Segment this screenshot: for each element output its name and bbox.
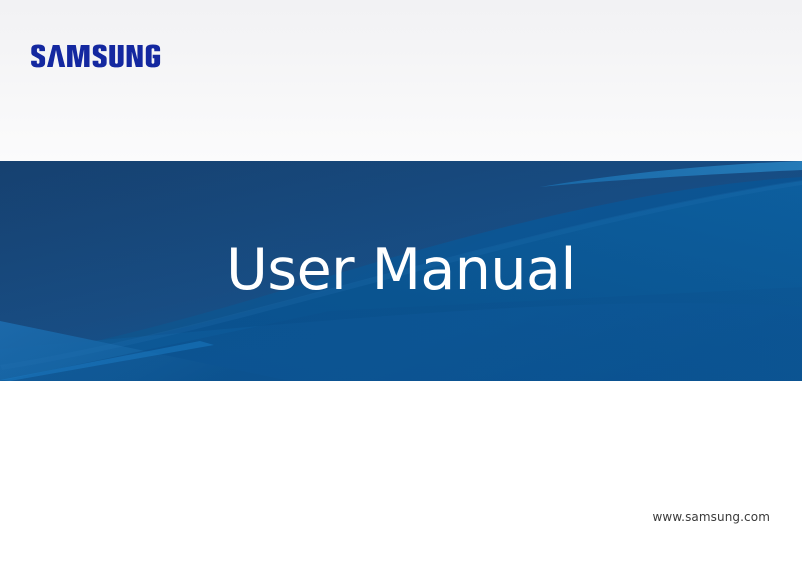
hero-banner: User Manual [0,161,802,381]
samsung-wordmark-logo [30,42,174,70]
manual-cover-page: SAMSUNG [0,0,802,567]
header-band: SAMSUNG [0,0,802,161]
website-url[interactable]: www.samsung.com [653,510,770,524]
hero-title-container: User Manual [0,161,802,381]
page-title: User Manual [226,242,576,299]
footer-area: www.samsung.com [0,381,802,567]
